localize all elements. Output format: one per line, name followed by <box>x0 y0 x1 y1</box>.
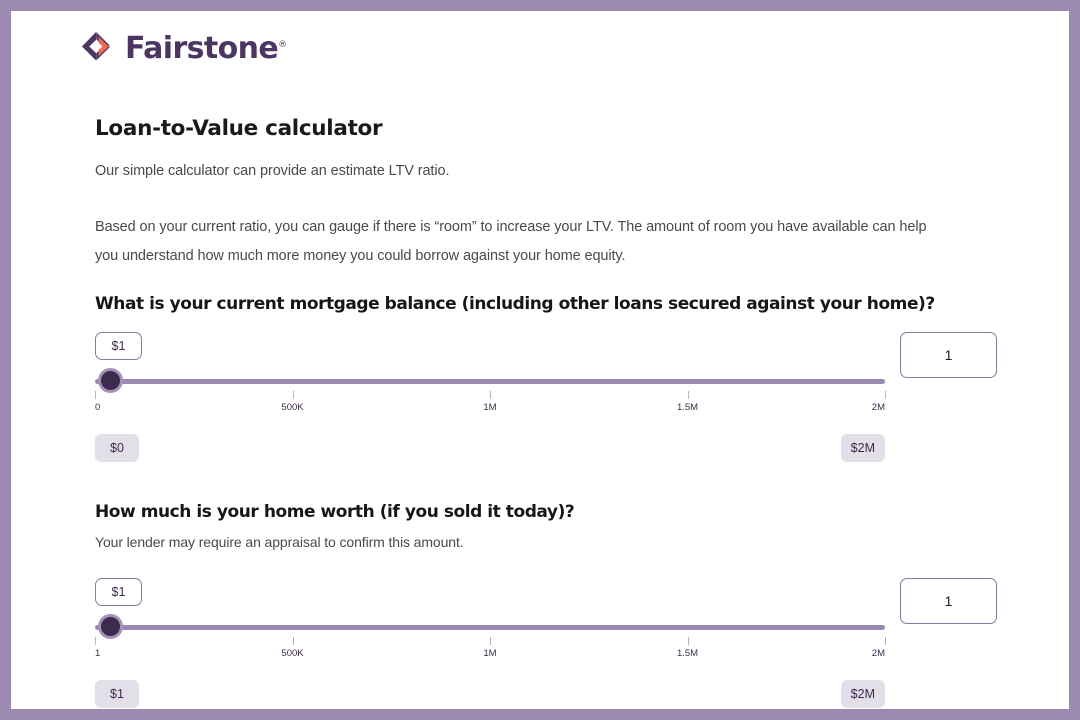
question-help-text: Your lender may require an appraisal to … <box>95 534 464 550</box>
tick-mark <box>490 391 491 399</box>
slider-thumb[interactable] <box>98 614 123 639</box>
page-subtitle: Our simple calculator can provide an est… <box>95 163 449 179</box>
tick-mark <box>95 391 96 399</box>
tick-mark <box>95 637 96 645</box>
tick-mark <box>490 637 491 645</box>
registered-mark: ® <box>278 40 286 50</box>
amount-input-mortgage-balance[interactable] <box>900 332 997 378</box>
tick-mark <box>688 391 689 399</box>
slider-min-badge: $0 <box>95 434 139 462</box>
slider-max-badge: $2M <box>841 680 885 708</box>
slider-ticks: 0 500K 1M 1.5M 2M <box>95 391 885 415</box>
tick-mark <box>293 637 294 645</box>
slider-track[interactable] <box>95 625 885 630</box>
tick-label: 1M <box>483 402 496 413</box>
tick-label: 1M <box>483 648 496 659</box>
tick-label: 1.5M <box>677 402 698 413</box>
page-frame: Fairstone® Loan-to-Value calculator Our … <box>11 11 1069 709</box>
tick-label: 0 <box>95 402 100 413</box>
slider-thumb[interactable] <box>98 368 123 393</box>
tick-mark <box>688 637 689 645</box>
tick-label: 1 <box>95 648 100 659</box>
page-intro-paragraph: Based on your current ratio, you can gau… <box>95 213 940 271</box>
slider-track-area[interactable] <box>95 376 885 386</box>
tick-label: 500K <box>281 402 303 413</box>
slider-ticks: 1 500K 1M 1.5M 2M <box>95 637 885 661</box>
amount-input-home-value[interactable] <box>900 578 997 624</box>
tick-mark <box>885 391 886 399</box>
page-title: Loan-to-Value calculator <box>95 116 382 141</box>
slider-value-bubble: $1 <box>95 332 142 360</box>
slider-max-badge: $2M <box>841 434 885 462</box>
fairstone-diamond-chevron-logo-icon <box>79 29 116 66</box>
tick-mark <box>293 391 294 399</box>
tick-label: 2M <box>872 648 885 659</box>
tick-label: 2M <box>872 402 885 413</box>
brand-wordmark: Fairstone® <box>125 34 287 64</box>
slider-min-badge: $1 <box>95 680 139 708</box>
tick-label: 500K <box>281 648 303 659</box>
slider-track-area[interactable] <box>95 622 885 632</box>
tick-label: 1.5M <box>677 648 698 659</box>
question-title: What is your current mortgage balance (i… <box>95 294 935 314</box>
slider-track[interactable] <box>95 379 885 384</box>
slider-value-bubble: $1 <box>95 578 142 606</box>
brand-logo[interactable]: Fairstone® <box>79 29 287 66</box>
tick-mark <box>885 637 886 645</box>
question-title: How much is your home worth (if you sold… <box>95 502 574 522</box>
brand-name: Fairstone <box>125 31 278 66</box>
